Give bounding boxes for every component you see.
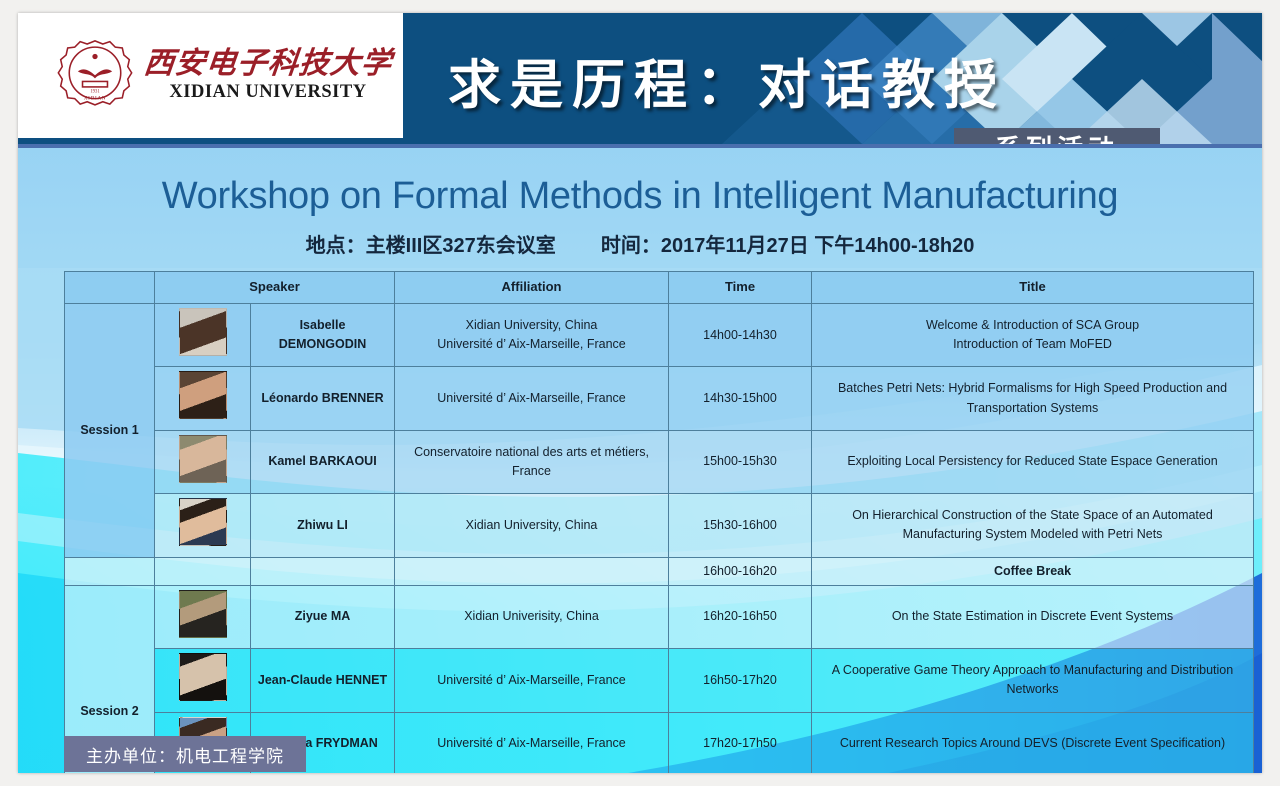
- speaker-affiliation: Université d’ Aix-Marseille, France: [395, 649, 669, 712]
- speaker-photo: [155, 304, 251, 367]
- table-row: Kamel BARKAOUI Conservatoire national de…: [65, 430, 1254, 493]
- series-label-text: 系列活动: [995, 129, 1119, 144]
- session-blank: [65, 557, 155, 585]
- speaker-name: Léonardo BRENNER: [251, 367, 395, 430]
- speaker-photo: [155, 585, 251, 648]
- table-header-row: Speaker Affiliation Time Title: [65, 272, 1254, 304]
- speaker-name: Kamel BARKAOUI: [251, 430, 395, 493]
- time-label: 时间：2017年11月27日 下午14h00-18h20: [601, 235, 975, 257]
- svg-text:1931: 1931: [90, 89, 100, 94]
- col-header-affiliation: Affiliation: [395, 272, 669, 304]
- series-label-box: 系列活动: [954, 128, 1160, 144]
- speaker-affiliation-blank: [395, 557, 669, 585]
- talk-title: Welcome & Introduction of SCA Group Intr…: [812, 304, 1254, 367]
- col-header-title: Title: [812, 272, 1254, 304]
- speaker-name-blank: [251, 557, 395, 585]
- talk-title: Batches Petri Nets: Hybrid Formalisms fo…: [812, 367, 1254, 430]
- xidian-seal-icon: 1931 XIDIAN: [56, 37, 134, 115]
- speaker-affiliation: Université d’ Aix-Marseille, France: [395, 712, 669, 773]
- talk-title: Exploiting Local Persistency for Reduced…: [812, 430, 1254, 493]
- col-header-blank: [65, 272, 155, 304]
- talk-title: On Hierarchical Construction of the Stat…: [812, 494, 1254, 557]
- speaker-photo: [155, 494, 251, 557]
- talk-title: Current Research Topics Around DEVS (Dis…: [812, 712, 1254, 773]
- speaker-photo: [155, 430, 251, 493]
- col-header-speaker: Speaker: [155, 272, 395, 304]
- speaker-name: Jean-Claude HENNET: [251, 649, 395, 712]
- talk-time: 16h20-16h50: [669, 585, 812, 648]
- talk-time: 15h30-16h00: [669, 494, 812, 557]
- header-divider: [18, 144, 1262, 148]
- table-row: Session 2 Ziyue MA Xidian Univerisity, C…: [65, 585, 1254, 648]
- banner-title-chinese: 求是历程：对话教授: [448, 43, 1006, 119]
- session-label-1: Session 1: [65, 304, 155, 558]
- table-row-break: 16h00-16h20 Coffee Break: [65, 557, 1254, 585]
- svg-text:XIDIAN: XIDIAN: [84, 95, 107, 101]
- organizer-label: 主办单位：机电工程学院: [86, 742, 284, 767]
- speaker-name: Isabelle DEMONGODIN: [251, 304, 395, 367]
- speaker-name-line1: Isabelle: [300, 318, 346, 332]
- logo-chinese-name: 西安电子科技大学: [142, 48, 393, 80]
- col-header-time: Time: [669, 272, 812, 304]
- workshop-title: Workshop on Formal Methods in Intelligen…: [18, 175, 1262, 218]
- speaker-name: Zhiwu LI: [251, 494, 395, 557]
- table-row: Session 1 Isabelle DEMONGODIN Xidian Uni…: [65, 304, 1254, 367]
- break-time: 16h00-16h20: [669, 557, 812, 585]
- talk-title-line1: Welcome & Introduction of SCA Group: [926, 318, 1139, 332]
- speaker-affiliation: Xidian University, China Université d’ A…: [395, 304, 669, 367]
- speaker-name: Ziyue MA: [251, 585, 395, 648]
- speaker-affiliation: Conservatoire national des arts et métie…: [395, 430, 669, 493]
- talk-time: 17h20-17h50: [669, 712, 812, 773]
- poster-header: 1931 XIDIAN 西安电子科技大学 XIDIAN UNIVERSITY 求…: [18, 13, 1262, 144]
- talk-title: On the State Estimation in Discrete Even…: [812, 585, 1254, 648]
- affiliation-line1: Xidian University, China: [466, 318, 598, 332]
- talk-time: 14h30-15h00: [669, 367, 812, 430]
- talk-time: 16h50-17h20: [669, 649, 812, 712]
- talk-title: A Cooperative Game Theory Approach to Ma…: [812, 649, 1254, 712]
- table-row: Léonardo BRENNER Université d’ Aix-Marse…: [65, 367, 1254, 430]
- speaker-name-line2: DEMONGODIN: [279, 337, 367, 351]
- logo-english-name: XIDIAN UNIVERSITY: [169, 82, 366, 103]
- organizer-badge: 主办单位：机电工程学院: [64, 736, 306, 772]
- table-row: Zhiwu LI Xidian University, China 15h30-…: [65, 494, 1254, 557]
- poster-slide: 1931 XIDIAN 西安电子科技大学 XIDIAN UNIVERSITY 求…: [18, 13, 1262, 773]
- speaker-photo: [155, 649, 251, 712]
- affiliation-line2: Université d’ Aix-Marseille, France: [437, 337, 625, 351]
- table-row: Jean-Claude HENNET Université d’ Aix-Mar…: [65, 649, 1254, 712]
- speaker-photo-blank: [155, 557, 251, 585]
- speaker-affiliation: Université d’ Aix-Marseille, France: [395, 367, 669, 430]
- venue-label: 地点：主楼III区327东会议室: [306, 235, 556, 257]
- speaker-affiliation: Xidian University, China: [395, 494, 669, 557]
- talk-time: 14h00-14h30: [669, 304, 812, 367]
- speaker-photo: [155, 367, 251, 430]
- talk-time: 15h00-15h30: [669, 430, 812, 493]
- schedule-table: Speaker Affiliation Time Title Session 1…: [64, 271, 1254, 773]
- talk-title-line2: Introduction of Team MoFED: [953, 337, 1112, 351]
- venue-time-line: 地点：主楼III区327东会议室 时间：2017年11月27日 下午14h00-…: [18, 229, 1262, 258]
- university-logo-block: 1931 XIDIAN 西安电子科技大学 XIDIAN UNIVERSITY: [18, 13, 403, 138]
- speaker-affiliation: Xidian Univerisity, China: [395, 585, 669, 648]
- break-label: Coffee Break: [812, 557, 1254, 585]
